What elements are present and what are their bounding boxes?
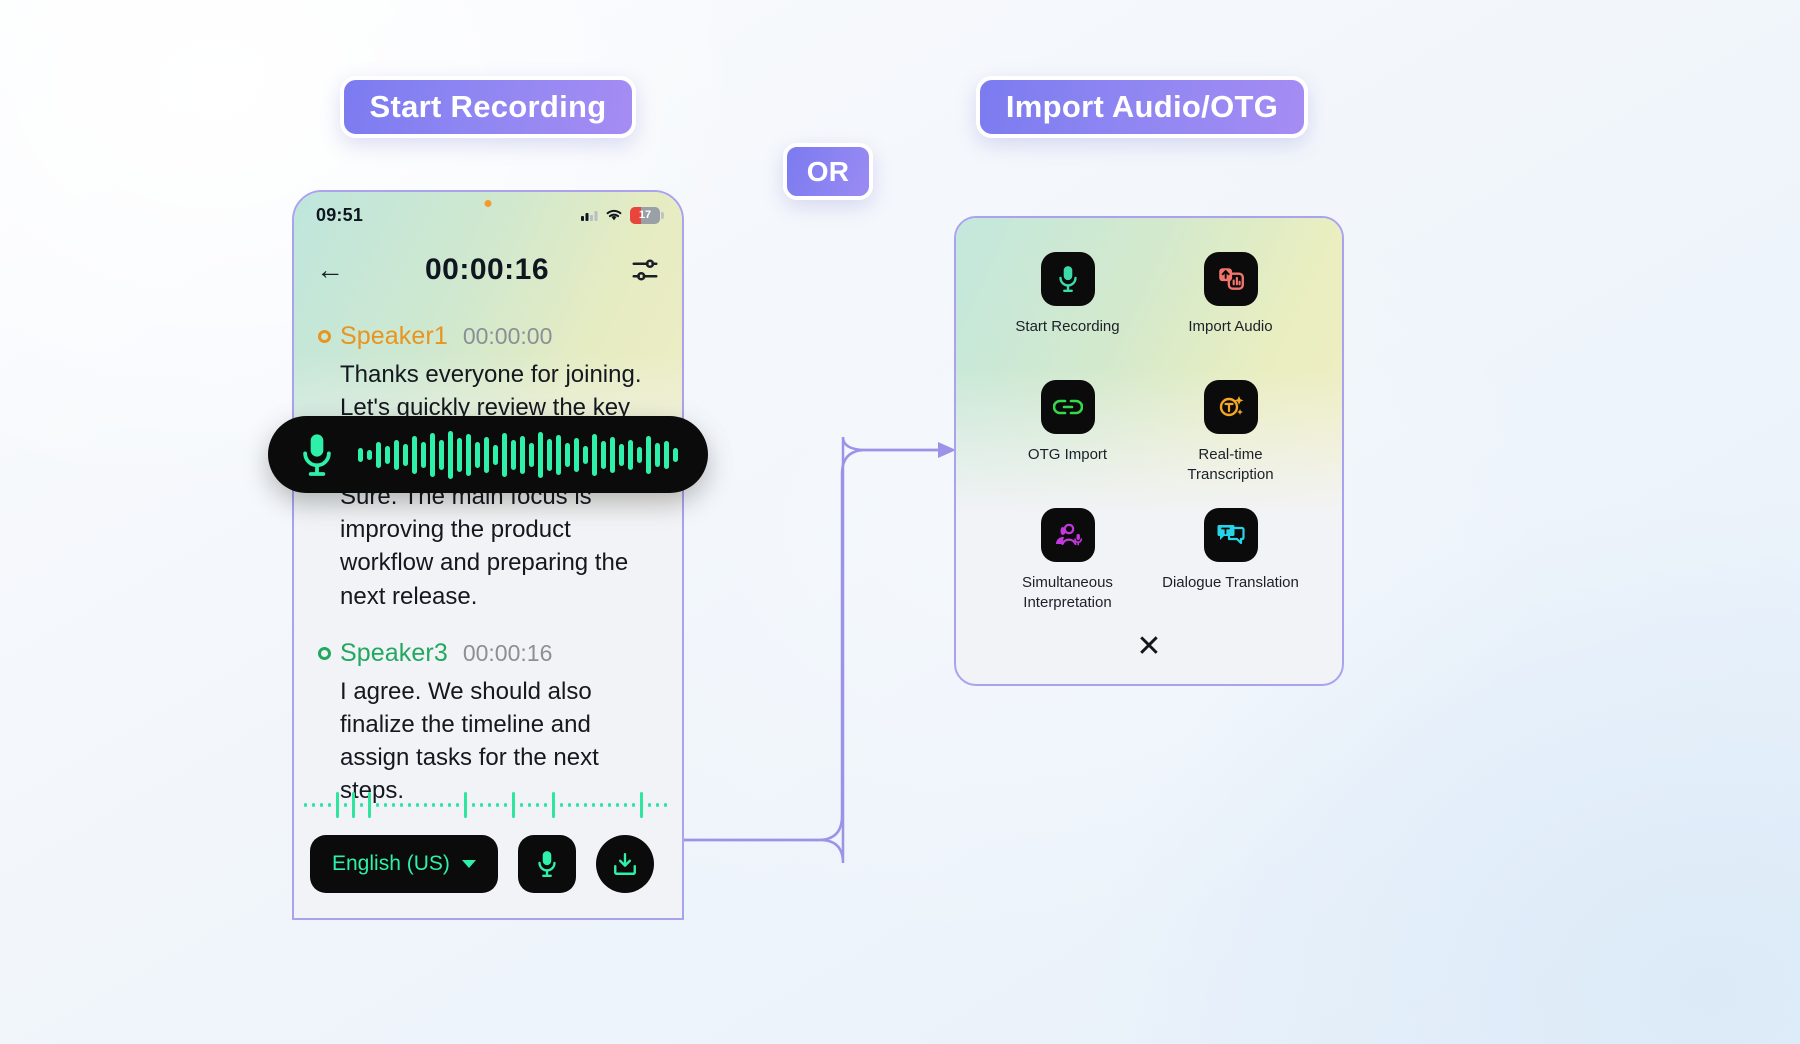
microphone-icon (1041, 252, 1095, 306)
timeline-ruler[interactable] (304, 788, 672, 822)
label-start-recording: Start Recording (340, 76, 636, 138)
speaker-name: Speaker1 (340, 322, 448, 351)
speaker-header: Speaker1 00:00:00 (318, 322, 658, 351)
recording-waveform-overlay (268, 416, 708, 493)
link-icon (1041, 380, 1095, 434)
tile-start-recording[interactable]: Start Recording (986, 252, 1149, 380)
label-or: OR (783, 143, 873, 200)
tile-label: Real-time Transcription (1161, 445, 1301, 484)
canvas: Start Recording OR Import Audio/OTG 09:5… (0, 0, 1800, 1044)
tile-dialogue-translation[interactable]: Dialogue Translation (1149, 508, 1312, 636)
status-time: 09:51 (316, 205, 363, 226)
battery-indicator: 17 (630, 207, 660, 224)
speaker-timestamp: 00:00:16 (463, 640, 553, 667)
tile-otg-import[interactable]: OTG Import (986, 380, 1149, 508)
phone-header: ← 00:00:16 (294, 242, 682, 298)
people-mic-icon (1041, 508, 1095, 562)
tile-simultaneous-interpretation[interactable]: Simultaneous Interpretation (986, 508, 1149, 636)
tile-label: Simultaneous Interpretation (998, 573, 1138, 612)
speaker-timestamp: 00:00:00 (463, 323, 553, 350)
record-mic-button[interactable] (518, 835, 576, 893)
waveform-bars (358, 430, 678, 480)
phone-mockup: 09:51 17 ← 00:0 (292, 190, 684, 920)
speaker-name: Speaker3 (340, 639, 448, 668)
tile-realtime-transcription[interactable]: Real-time Transcription (1149, 380, 1312, 508)
language-selector[interactable]: English (US) (310, 835, 498, 893)
transcript-list: Speaker1 00:00:00 Thanks everyone for jo… (294, 304, 682, 807)
transcript-text: Thanks everyone for joining. Let's quick… (318, 358, 658, 424)
speaker-dot-icon (318, 330, 331, 343)
tile-label: Dialogue Translation (1162, 573, 1299, 593)
connector-arrow (0, 0, 1800, 1044)
label-import-audio-otg: Import Audio/OTG (976, 76, 1308, 138)
transcript-text: Sure. The main focus is improving the pr… (318, 480, 658, 612)
import-audio-icon (1204, 252, 1258, 306)
close-icon[interactable]: ✕ (1136, 632, 1161, 662)
save-recording-button[interactable] (596, 835, 654, 893)
speaker-header: Speaker3 00:00:16 (318, 639, 658, 668)
microphone-icon (298, 431, 336, 479)
recording-timer: 00:00:16 (344, 253, 630, 287)
tile-label: Import Audio (1188, 317, 1272, 337)
tile-label: OTG Import (1028, 445, 1107, 465)
chat-translate-icon (1204, 508, 1258, 562)
transcription-sparkle-icon (1204, 380, 1258, 434)
recording-indicator-dot (485, 200, 492, 207)
tile-import-audio[interactable]: Import Audio (1149, 252, 1312, 380)
microphone-icon (534, 849, 560, 879)
wifi-icon (605, 208, 623, 222)
cellular-signal-icon (581, 208, 598, 222)
save-download-icon (612, 851, 638, 877)
chevron-down-icon (462, 860, 476, 868)
phone-toolbar: English (US) (294, 824, 682, 904)
status-bar: 09:51 17 (294, 192, 682, 238)
transcript-entry: Speaker3 00:00:16 I agree. We should als… (318, 639, 658, 807)
tile-label: Start Recording (1015, 317, 1119, 337)
sliders-icon[interactable] (630, 255, 660, 285)
transcript-entry: Sure. The main focus is improving the pr… (318, 480, 658, 612)
transcript-entry: Speaker1 00:00:00 Thanks everyone for jo… (318, 322, 658, 424)
language-label: English (US) (332, 852, 450, 876)
speaker-dot-icon (318, 647, 331, 660)
action-grid: Start Recording Import Audio (956, 218, 1342, 684)
battery-level: 17 (639, 209, 651, 221)
action-panel: Start Recording Import Audio (954, 216, 1344, 686)
status-icons: 17 (581, 207, 660, 224)
arrow-left-icon[interactable]: ← (316, 256, 344, 284)
